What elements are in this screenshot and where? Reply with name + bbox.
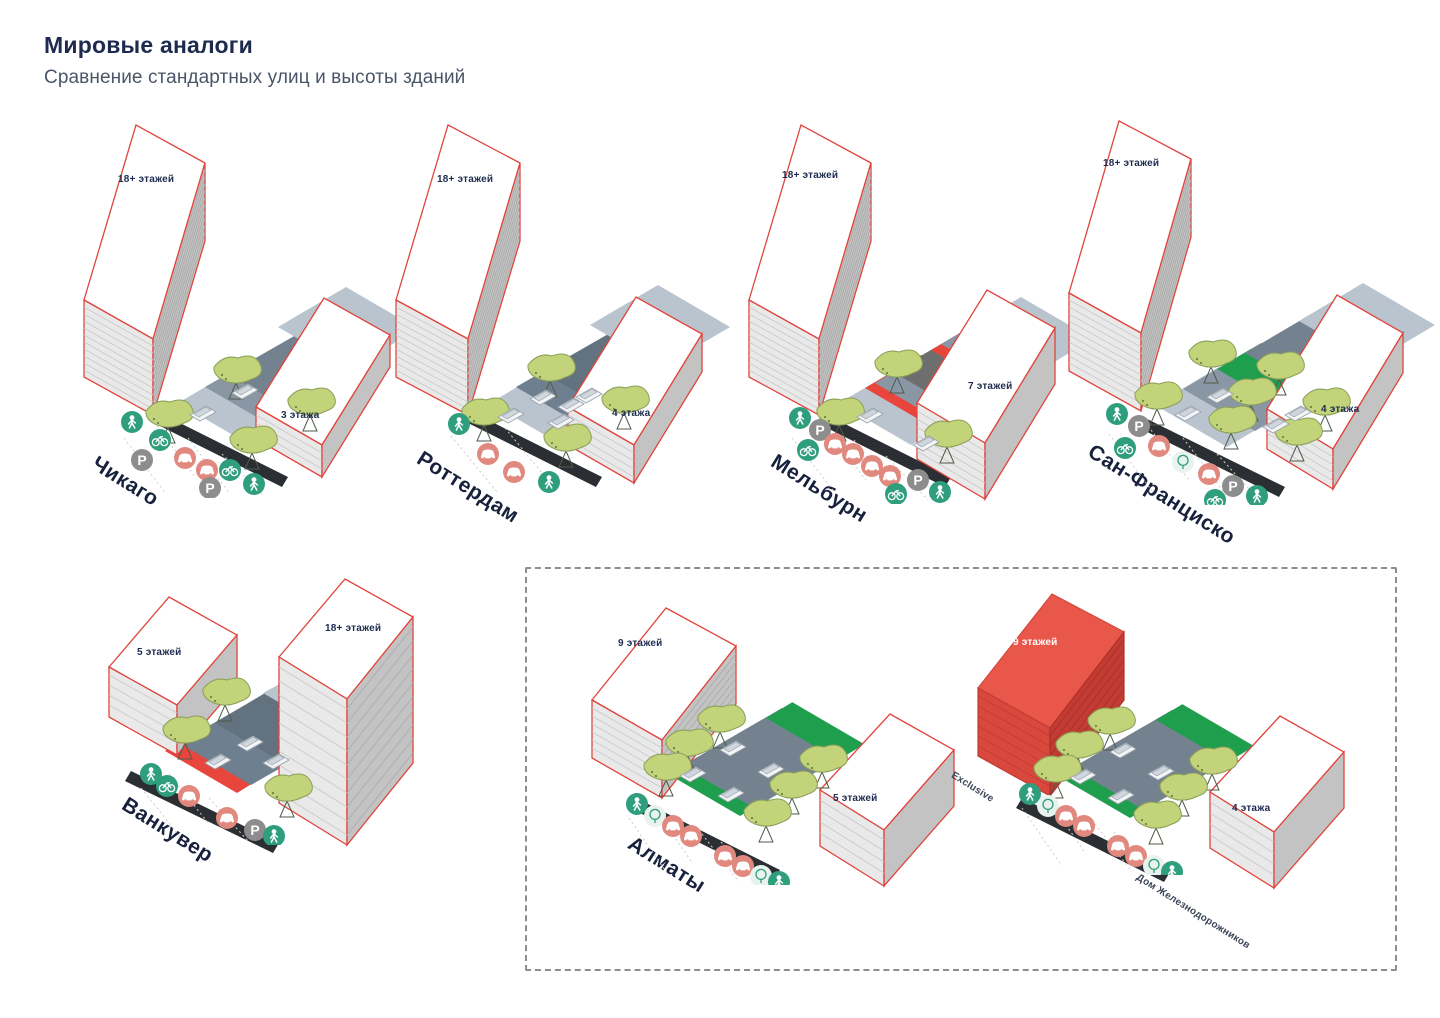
floors-label-left: 9 этажей xyxy=(1013,637,1057,648)
floors-label-right: 7 этажей xyxy=(968,381,1012,392)
car-icon xyxy=(174,447,196,469)
bike-icon xyxy=(156,775,178,797)
car-icon xyxy=(178,785,200,807)
car-icon xyxy=(477,443,499,465)
page-subtitle: Сравнение стандартных улиц и высоты здан… xyxy=(44,68,465,87)
tree-icon xyxy=(1172,451,1194,473)
bike-icon xyxy=(1204,489,1226,505)
floors-label-left: 18+ этажей xyxy=(118,174,174,185)
pedestrian-icon xyxy=(243,473,265,495)
car-icon xyxy=(842,443,864,465)
pedestrian-icon xyxy=(1106,403,1128,425)
floors-label-left: 5 этажей xyxy=(137,647,181,658)
building-left[interactable] xyxy=(749,125,871,415)
building-left[interactable] xyxy=(396,125,520,415)
bike-icon xyxy=(797,439,819,461)
parking-icon xyxy=(1128,415,1150,437)
parking-icon xyxy=(131,449,153,471)
bike-icon xyxy=(885,483,907,504)
car-icon xyxy=(216,807,238,829)
parking-icon xyxy=(907,469,929,491)
pedestrian-icon xyxy=(1246,485,1268,505)
page-title: Мировые аналоги xyxy=(44,34,465,57)
floors-label-right: 18+ этажей xyxy=(325,623,381,634)
car-icon xyxy=(503,461,525,483)
parking-icon xyxy=(199,477,221,498)
floors-label-left: 18+ этажей xyxy=(437,174,493,185)
pedestrian-icon xyxy=(538,471,560,493)
floors-label-left: 18+ этажей xyxy=(1103,158,1159,169)
car-icon xyxy=(1073,815,1095,837)
parking-icon xyxy=(1222,475,1244,497)
building-left[interactable] xyxy=(84,125,205,415)
floors-label-right: 5 этажей xyxy=(833,793,877,804)
pedestrian-icon xyxy=(448,413,470,435)
parking-icon xyxy=(244,819,266,841)
pedestrian-icon xyxy=(1019,783,1041,805)
pedestrian-icon xyxy=(263,825,285,845)
floors-label-right: 4 этажа xyxy=(612,408,650,419)
pedestrian-icon xyxy=(121,411,143,433)
floors-label-right: 4 этажа xyxy=(1232,803,1270,814)
bike-icon xyxy=(1114,437,1136,459)
building-right[interactable] xyxy=(279,579,413,845)
floors-label-left: 18+ этажей xyxy=(782,170,838,181)
floors-label-right: 4 этажа xyxy=(1321,404,1359,415)
bike-icon xyxy=(219,459,241,481)
car-icon xyxy=(1198,463,1220,485)
car-icon xyxy=(1148,435,1170,457)
header: Мировые аналоги Сравнение стандартных ул… xyxy=(44,34,465,87)
floors-label-left: 9 этажей xyxy=(618,638,662,649)
bike-icon xyxy=(149,429,171,451)
pedestrian-icon xyxy=(789,407,811,429)
scene-vancouver[interactable] xyxy=(95,575,455,905)
pedestrian-icon xyxy=(626,793,648,815)
car-icon xyxy=(680,825,702,847)
pedestrian-icon xyxy=(929,481,951,503)
